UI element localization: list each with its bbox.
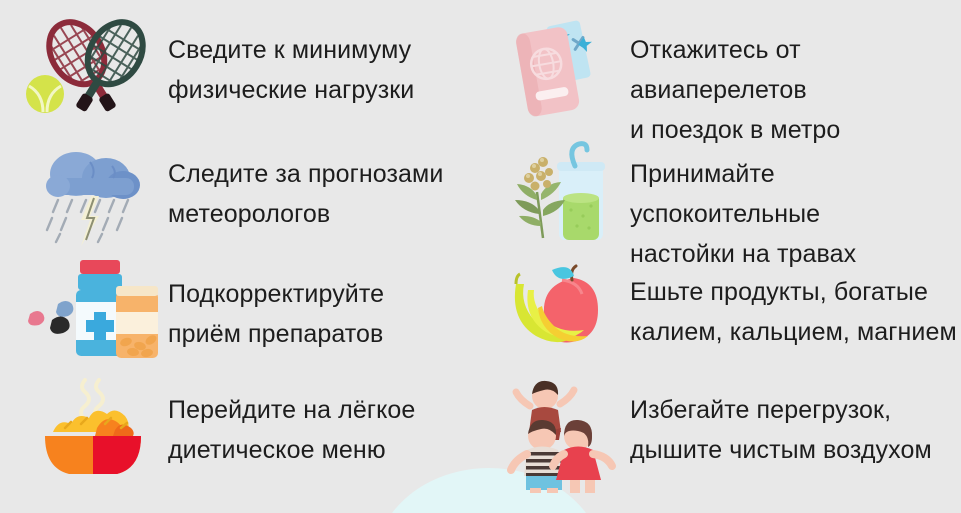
- tip-switch-to-light-diet: Перейдите на лёгкое диетическое меню: [0, 370, 480, 513]
- tip-watch-weather-forecast: Следите за прогнозами метеорологов: [0, 130, 480, 250]
- tip-line-1: Сведите к минимуму: [168, 36, 411, 64]
- infographic-canvas: Сведите к минимуму физические нагрузки: [0, 0, 961, 513]
- tennis-rackets-icon: [18, 12, 168, 122]
- tip-line-2: калием, кальцием, магнием: [630, 318, 957, 346]
- tip-line-2: дышите чистым воздухом: [630, 436, 932, 464]
- tip-line-2: приём препаратов: [168, 320, 383, 348]
- tip-line-2: метеорологов: [168, 200, 330, 228]
- tip-text: Подкорректируйте приём препаратов: [168, 256, 384, 354]
- tip-line-1: Следите за прогнозами: [168, 160, 443, 188]
- tip-adjust-medication-intake: Подкорректируйте приём препаратов: [0, 250, 480, 370]
- tip-line-1: Подкорректируйте: [168, 280, 384, 308]
- tip-text: Сведите к минимуму физические нагрузки: [168, 12, 414, 110]
- tip-line-1: Ешьте продукты, богатые: [630, 278, 928, 306]
- passport-tickets-icon: [500, 12, 622, 124]
- tip-limit-physical-activity: Сведите к минимуму физические нагрузки: [0, 0, 480, 130]
- tip-text: Ешьте продукты, богатые калием, кальцием…: [630, 256, 957, 352]
- tip-take-herbal-sedatives: Принимайте успокоительные настойки на тр…: [480, 130, 961, 250]
- tip-text: Следите за прогнозами метеорологов: [168, 138, 443, 234]
- pill-bottles-icon: [18, 256, 168, 366]
- hot-bowl-icon: [18, 378, 168, 488]
- rain-cloud-icon: [18, 138, 168, 248]
- tip-text: Избегайте перегрузок, дышите чистым возд…: [630, 378, 932, 470]
- banana-apple-icon: [500, 256, 622, 356]
- tip-line-1: Избегайте перегрузок,: [630, 396, 891, 424]
- tip-avoid-overload-breathe-fresh-air: Избегайте перегрузок, дышите чистым возд…: [480, 370, 961, 513]
- tip-eat-potassium-rich-food: Ешьте продукты, богатые калием, кальцием…: [480, 250, 961, 370]
- tips-grid: Сведите к минимуму физические нагрузки: [0, 0, 961, 513]
- tip-line-1: Откажитесь от авиаперелетов: [630, 36, 807, 104]
- children-playing-icon: [500, 378, 622, 493]
- tip-line-1: Перейдите на лёгкое: [168, 396, 415, 424]
- tip-avoid-flights-and-metro: Откажитесь от авиаперелетов и поездок в …: [480, 0, 961, 130]
- tip-text: Перейдите на лёгкое диетическое меню: [168, 378, 415, 470]
- tip-line-2: физические нагрузки: [168, 76, 414, 104]
- tip-line-2: диетическое меню: [168, 436, 386, 464]
- tip-line-1: Принимайте успокоительные: [630, 160, 820, 228]
- herbal-drink-icon: [500, 138, 622, 248]
